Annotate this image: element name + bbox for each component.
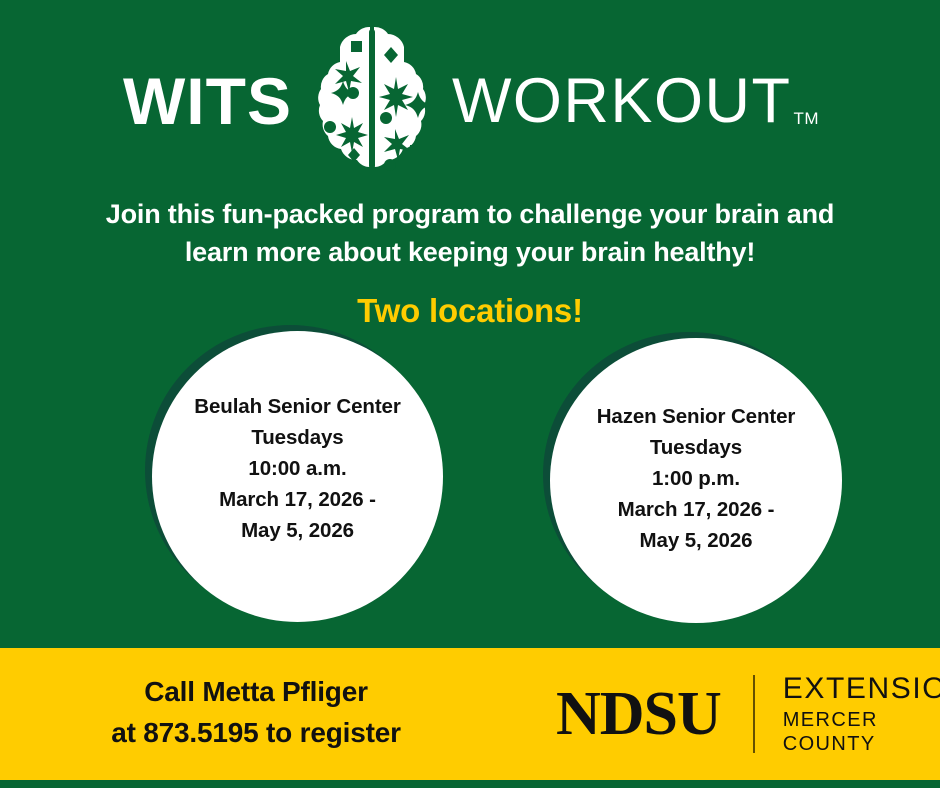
- trademark-icon: TM: [793, 109, 819, 128]
- headline-line-1: Join this fun-packed program to challeng…: [60, 195, 880, 233]
- logo-workout-text: WORKOUT: [452, 66, 791, 136]
- wits-workout-flyer: WITS: [0, 0, 940, 788]
- location-day: Tuesdays: [597, 432, 796, 463]
- contact-line-2: at 873.5195 to register: [46, 713, 466, 754]
- ndsu-wordmark: NDSU: [556, 683, 721, 745]
- headline-line-2: learn more about keeping your brain heal…: [60, 233, 880, 271]
- logo-workout-word: WORKOUTTM: [452, 70, 817, 133]
- location-time: 10:00 a.m.: [194, 453, 400, 484]
- headline: Join this fun-packed program to challeng…: [60, 195, 880, 272]
- county-label: MERCER COUNTY: [783, 708, 940, 756]
- footer-band: Call Metta Pfliger at 873.5195 to regist…: [0, 648, 940, 780]
- location-details-hazen: Hazen Senior Center Tuesdays 1:00 p.m. M…: [583, 401, 810, 557]
- location-circle-hazen: Hazen Senior Center Tuesdays 1:00 p.m. M…: [550, 338, 842, 623]
- subheadline-two-locations: Two locations!: [0, 292, 940, 330]
- brain-icon: [298, 17, 446, 177]
- logo-divider: [753, 675, 755, 753]
- location-day: Tuesdays: [194, 422, 400, 453]
- location-circle-beulah: Beulah Senior Center Tuesdays 10:00 a.m.…: [152, 331, 443, 622]
- location-date-end: May 5, 2026: [597, 525, 796, 556]
- logo-wits-word: WITS: [123, 68, 292, 134]
- location-name: Hazen Senior Center: [597, 401, 796, 432]
- location-date-start: March 17, 2026 -: [194, 484, 400, 515]
- contact-line-1: Call Metta Pfliger: [46, 672, 466, 713]
- location-time: 1:00 p.m.: [597, 463, 796, 494]
- extension-label: EXTENSION: [783, 672, 940, 705]
- ndsu-extension-logo: NDSU EXTENSION MERCER COUNTY: [556, 670, 940, 758]
- location-details-beulah: Beulah Senior Center Tuesdays 10:00 a.m.…: [180, 391, 414, 547]
- extension-text-block: EXTENSION MERCER COUNTY: [783, 672, 940, 756]
- location-date-end: May 5, 2026: [194, 515, 400, 546]
- location-date-start: March 17, 2026 -: [597, 494, 796, 525]
- brand-logo: WITS: [0, 14, 940, 180]
- location-name: Beulah Senior Center: [194, 391, 400, 422]
- contact-info: Call Metta Pfliger at 873.5195 to regist…: [46, 672, 466, 753]
